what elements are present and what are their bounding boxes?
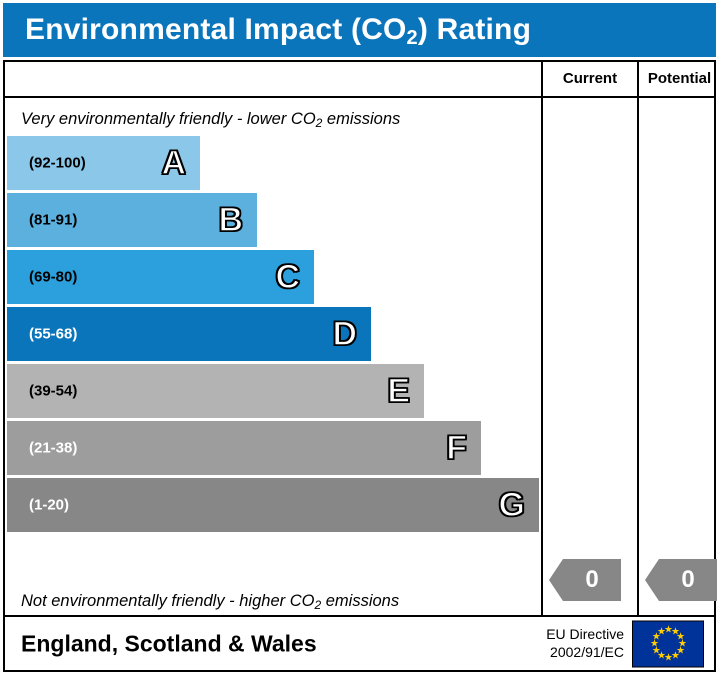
caption-bottom-prefix: Not environmentally friendly - higher CO (21, 592, 314, 610)
band-e-range: (39-54) (29, 383, 77, 400)
potential-rating-value: 0 (659, 568, 717, 592)
band-f: (21-38) F (7, 421, 481, 475)
caption-top-subscript: 2 (316, 116, 323, 130)
current-rating-value: 0 (563, 568, 621, 592)
caption-top-prefix: Very environmentally friendly - lower CO (21, 110, 316, 128)
caption-top: Very environmentally friendly - lower CO… (21, 110, 400, 129)
band-d-range: (55-68) (29, 326, 77, 343)
footer-directive-line1: EU Directive (546, 625, 624, 644)
caption-bottom-subscript: 2 (314, 598, 321, 612)
band-a-range: (92-100) (29, 155, 86, 172)
page-title-suffix: ) Rating (418, 13, 531, 46)
band-d-letter: D (332, 317, 357, 351)
band-g-letter: G (499, 488, 525, 522)
band-c-letter: C (275, 260, 300, 294)
footer-region-label: England, Scotland & Wales (21, 630, 317, 657)
band-e-letter: E (387, 374, 410, 408)
epc-environmental-impact-chart: Environmental Impact (CO2) Rating Curren… (0, 0, 719, 675)
band-f-letter: F (446, 431, 467, 465)
band-g-range: (1-20) (29, 497, 69, 514)
band-g: (1-20) G (7, 478, 539, 532)
column-header-potential: Potential (639, 70, 719, 87)
column-header-current: Current (543, 70, 637, 87)
eu-star-icon: ★ (657, 627, 666, 637)
band-c: (69-80) C (7, 250, 314, 304)
column-divider-current (541, 62, 543, 615)
band-b: (81-91) B (7, 193, 257, 247)
band-f-range: (21-38) (29, 440, 77, 457)
caption-bottom-suffix: emissions (321, 592, 399, 610)
band-b-letter: B (218, 203, 243, 237)
band-a: (92-100) A (7, 136, 200, 190)
caption-top-suffix: emissions (322, 110, 400, 128)
chart-footer: England, Scotland & Wales EU Directive 2… (3, 617, 716, 672)
page-title: Environmental Impact (CO2) Rating (25, 13, 531, 47)
page-title-prefix: Environmental Impact (CO (25, 13, 407, 46)
band-c-range: (69-80) (29, 269, 77, 286)
chart-frame: Current Potential Very environmentally f… (3, 60, 716, 617)
rating-bands: (92-100) A (81-91) B (69-80) C (55-68) D… (7, 136, 539, 586)
chart-title-bar: Environmental Impact (CO2) Rating (3, 3, 716, 57)
footer-directive: EU Directive 2002/91/EC (546, 625, 624, 663)
eu-flag-icon: ★★★★★★★★★★★★ (632, 620, 704, 667)
band-e: (39-54) E (7, 364, 424, 418)
band-a-letter: A (161, 146, 186, 180)
potential-rating-arrow-icon (645, 559, 659, 601)
footer-directive-line2: 2002/91/EC (546, 644, 624, 663)
potential-rating-badge: 0 (645, 559, 717, 601)
page-title-subscript: 2 (407, 27, 418, 49)
band-d: (55-68) D (7, 307, 371, 361)
band-b-range: (81-91) (29, 212, 77, 229)
caption-bottom: Not environmentally friendly - higher CO… (21, 592, 399, 611)
current-rating-badge: 0 (549, 559, 621, 601)
column-divider-potential (637, 62, 639, 615)
current-rating-arrow-icon (549, 559, 563, 601)
